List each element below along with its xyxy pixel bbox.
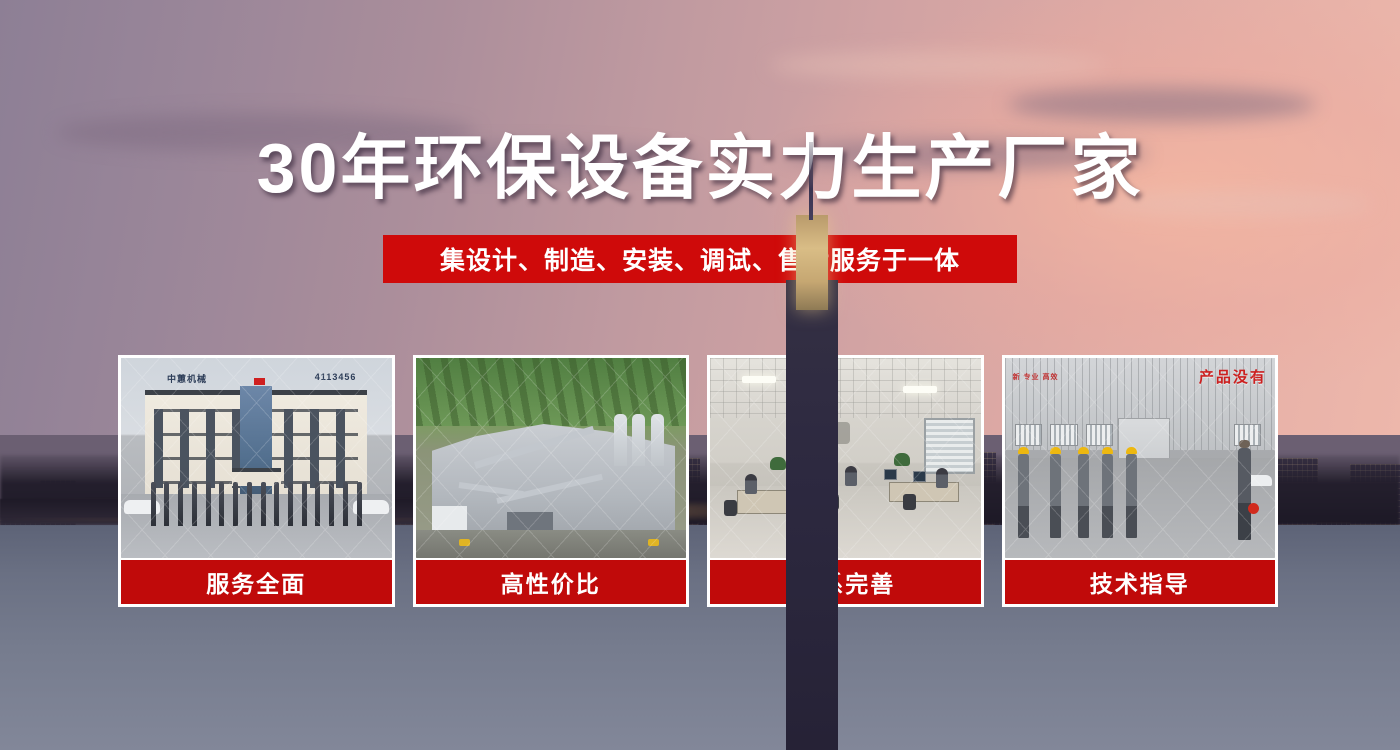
card-caption: 服务全面 bbox=[121, 558, 392, 604]
company-headquarters-photo: 中蕙机械 4113456 bbox=[121, 358, 392, 558]
skyscraper-crown bbox=[796, 215, 828, 310]
subtitle-text: 集设计、制造、安装、调试、售后服务于一体 bbox=[440, 241, 960, 277]
factory-sign-text: 产品没有 bbox=[1199, 366, 1267, 387]
feature-card[interactable]: 体系完善 bbox=[707, 355, 984, 607]
card-caption: 高性价比 bbox=[416, 558, 687, 604]
factory-slogan-text: 新 专业 高效 bbox=[1013, 372, 1059, 382]
skyscraper-spire bbox=[809, 142, 813, 220]
building-phone-text: 4113456 bbox=[315, 372, 357, 382]
feature-card[interactable]: 产品没有 新 专业 高效 技术指导 bbox=[1002, 355, 1279, 607]
feature-card[interactable]: 高性价比 bbox=[413, 355, 690, 607]
office-interior-photo bbox=[710, 358, 981, 558]
landmark-skyscraper bbox=[786, 280, 838, 750]
page-title: 30年环保设备实力生产厂家 bbox=[0, 133, 1400, 203]
factory-workers-photo: 产品没有 新 专业 高效 bbox=[1005, 358, 1276, 558]
building-sign-text: 中蕙机械 bbox=[167, 372, 207, 385]
subtitle-band: 集设计、制造、安装、调试、售后服务于一体 bbox=[383, 235, 1017, 283]
card-caption: 技术指导 bbox=[1005, 558, 1276, 604]
feature-card[interactable]: 中蕙机械 4113456 服务全面 bbox=[118, 355, 395, 607]
card-caption: 体系完善 bbox=[710, 558, 981, 604]
feature-card-list: 中蕙机械 4113456 服务全面 bbox=[118, 355, 1278, 607]
industrial-plant-aerial-photo bbox=[416, 358, 687, 558]
promo-banner: 30年环保设备实力生产厂家 集设计、制造、安装、调试、售后服务于一体 中蕙机械 … bbox=[0, 0, 1400, 750]
